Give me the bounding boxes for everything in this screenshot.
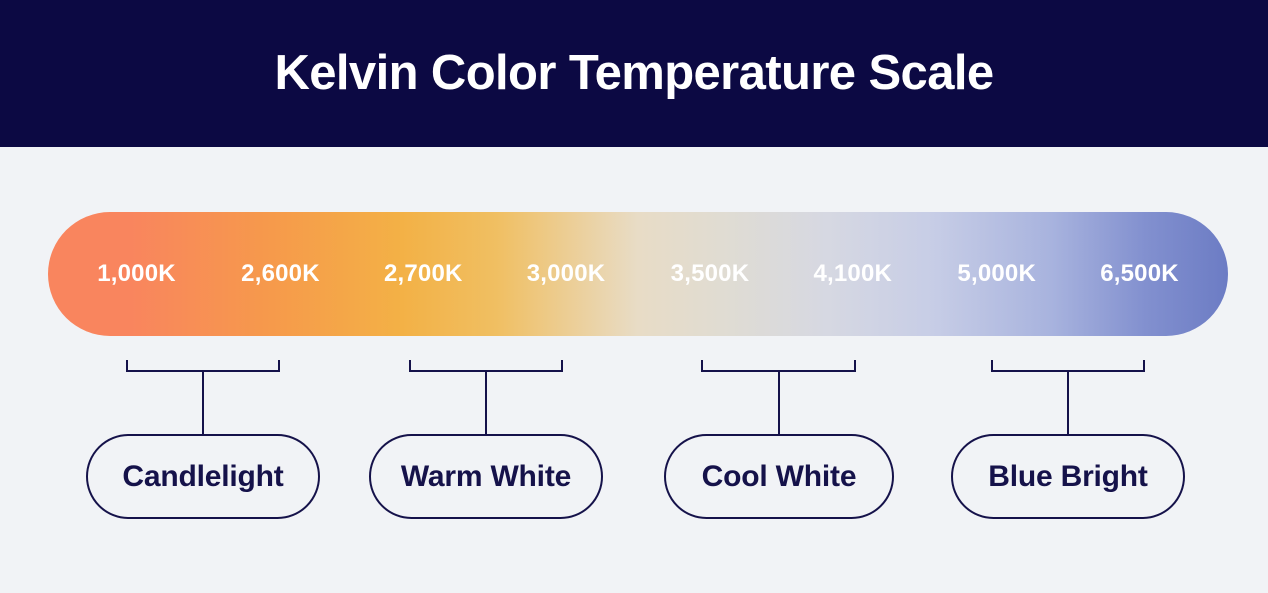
scale-diagram: 1,000K2,600K2,700K3,000K3,500K4,100K5,00… bbox=[0, 147, 1268, 593]
category-pill-cool-white[interactable]: Cool White bbox=[664, 434, 894, 519]
page-header: Kelvin Color Temperature Scale bbox=[0, 0, 1268, 147]
category-pill-warm-white[interactable]: Warm White bbox=[369, 434, 603, 519]
temperature-label-3500K: 3,500K bbox=[671, 262, 750, 286]
temperature-label-4100K: 4,100K bbox=[813, 262, 892, 286]
page-title: Kelvin Color Temperature Scale bbox=[274, 49, 993, 98]
bracket-tick-right bbox=[854, 360, 856, 372]
temperature-label-2700K: 2,700K bbox=[384, 262, 463, 286]
temperature-label-1000K: 1,000K bbox=[97, 262, 176, 286]
connector-line-cool-white bbox=[778, 372, 780, 434]
category-pill-label: Cool White bbox=[702, 462, 857, 492]
bracket-tick-right bbox=[561, 360, 563, 372]
temperature-label-2600K: 2,600K bbox=[241, 262, 320, 286]
bracket-tick-right bbox=[278, 360, 280, 372]
bracket-tick-left bbox=[991, 360, 993, 372]
bracket-tick-left bbox=[126, 360, 128, 372]
bracket-candlelight bbox=[126, 360, 280, 372]
bracket-blue-bright bbox=[991, 360, 1145, 372]
connector-line-blue-bright bbox=[1067, 372, 1069, 434]
category-pill-blue-bright[interactable]: Blue Bright bbox=[951, 434, 1185, 519]
connector-line-candlelight bbox=[202, 372, 204, 434]
bracket-tick-right bbox=[1143, 360, 1145, 372]
kelvin-gradient-bar: 1,000K2,600K2,700K3,000K3,500K4,100K5,00… bbox=[48, 212, 1228, 336]
bracket-tick-left bbox=[409, 360, 411, 372]
category-pill-label: Candlelight bbox=[122, 462, 283, 492]
temperature-label-6500K: 6,500K bbox=[1100, 262, 1179, 286]
bracket-warm-white bbox=[409, 360, 563, 372]
bracket-cool-white bbox=[701, 360, 856, 372]
bracket-tick-left bbox=[701, 360, 703, 372]
category-pill-candlelight[interactable]: Candlelight bbox=[86, 434, 320, 519]
connector-line-warm-white bbox=[485, 372, 487, 434]
temperature-label-5000K: 5,000K bbox=[957, 262, 1036, 286]
category-pill-label: Blue Bright bbox=[988, 462, 1147, 492]
temperature-label-3000K: 3,000K bbox=[527, 262, 606, 286]
category-pill-label: Warm White bbox=[401, 462, 571, 492]
